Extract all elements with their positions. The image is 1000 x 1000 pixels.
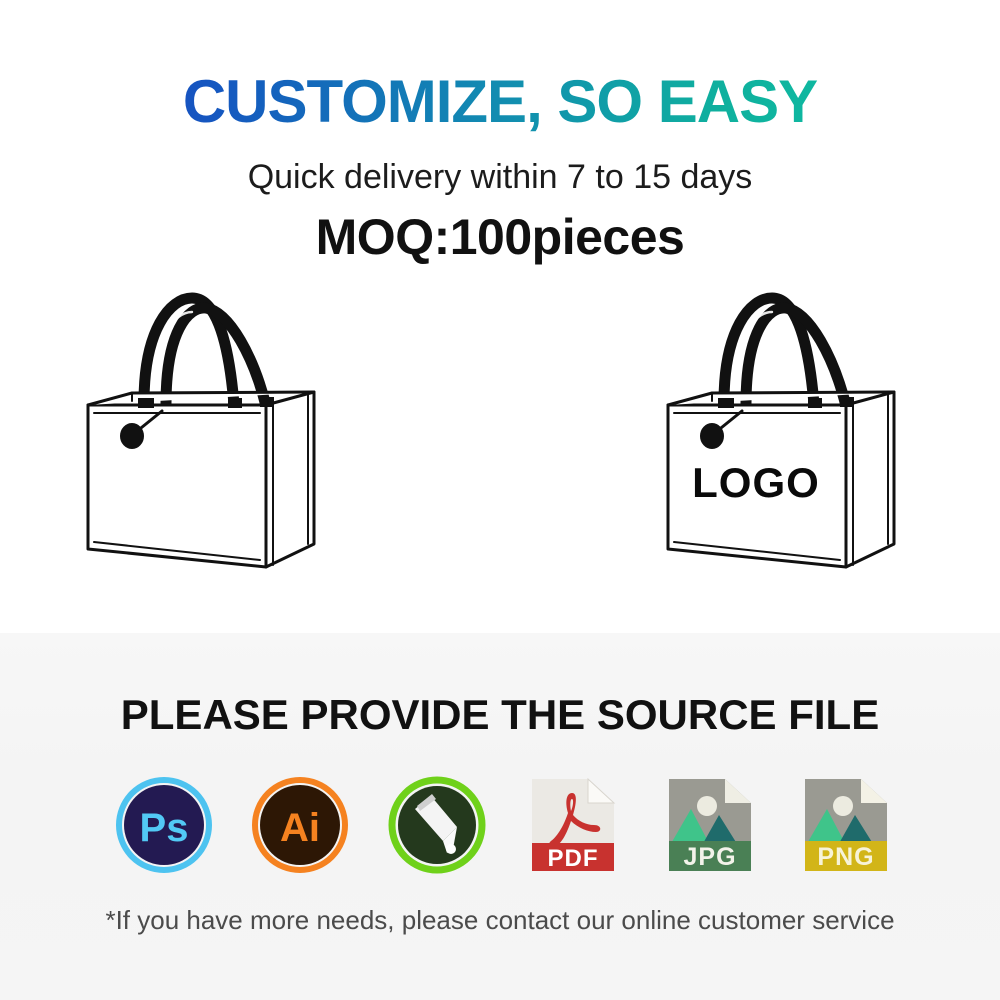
photoshop-icon[interactable]: Ps: [114, 775, 214, 875]
contact-note: *If you have more needs, please contact …: [0, 905, 1000, 936]
pdf-file-icon-label: PDF: [548, 845, 599, 872]
jpg-file-icon-cell[interactable]: JPG: [656, 771, 764, 879]
file-format-icon-row: Ps Ai: [110, 771, 900, 879]
customization-formula: + LOGO =: [0, 272, 1000, 612]
source-file-title: PLEASE PROVIDE THE SOURCE FILE: [0, 691, 1000, 739]
coreldraw-icon-cell[interactable]: [383, 771, 491, 879]
page-title: CUSTOMIZE, SO EASY: [0, 72, 1000, 132]
png-file-icon-label: PNG: [817, 843, 874, 871]
bag-printed-logo: LOGO: [692, 459, 820, 506]
pdf-file-icon-cell[interactable]: PDF: [519, 771, 627, 879]
illustrator-icon-cell[interactable]: Ai: [246, 771, 354, 879]
png-file-icon-cell[interactable]: PNG: [792, 771, 900, 879]
source-file-section: PLEASE PROVIDE THE SOURCE FILE Ps Ai: [0, 633, 1000, 1000]
photoshop-icon-label: Ps: [140, 806, 189, 850]
promo-banner-page: CUSTOMIZE, SO EASY Quick delivery within…: [0, 0, 1000, 1000]
jpg-file-icon[interactable]: JPG: [663, 775, 757, 875]
delivery-subtitle: Quick delivery within 7 to 15 days: [0, 158, 1000, 197]
illustrator-icon[interactable]: Ai: [250, 775, 350, 875]
tote-bag-with-logo-illustration: LOGO: [650, 272, 950, 602]
jpg-file-icon-label: JPG: [683, 843, 736, 871]
illustrator-icon-label: Ai: [280, 806, 320, 850]
png-file-icon[interactable]: PNG: [799, 775, 893, 875]
moq-text: MOQ:100pieces: [0, 208, 1000, 266]
coreldraw-icon[interactable]: [387, 775, 487, 875]
photoshop-icon-cell[interactable]: Ps: [110, 771, 218, 879]
blank-tote-bag-illustration: [70, 272, 370, 602]
top-section: CUSTOMIZE, SO EASY Quick delivery within…: [0, 0, 1000, 633]
pdf-file-icon[interactable]: PDF: [526, 775, 620, 875]
